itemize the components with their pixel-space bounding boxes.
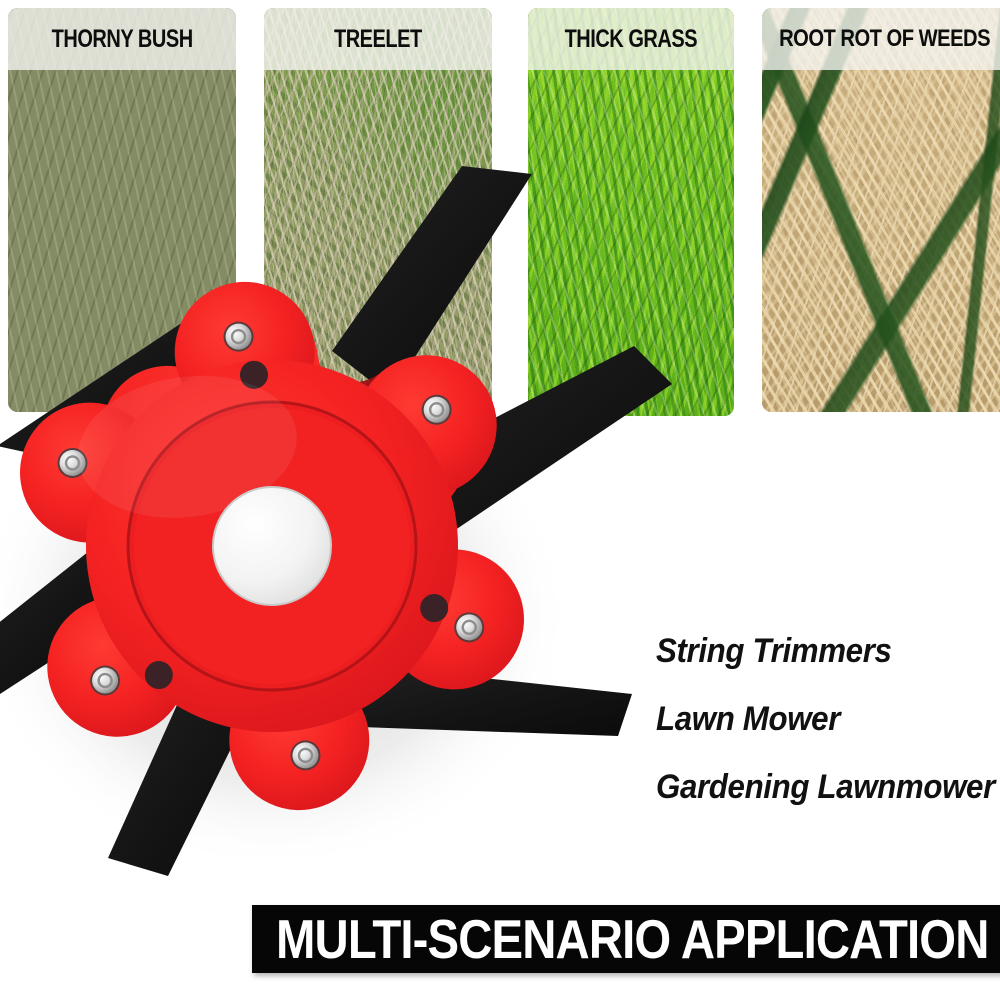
scenario-caption: TREELET: [264, 8, 492, 70]
headline-text: MULTI-SCENARIO APPLICATION: [276, 907, 989, 971]
scenario-label-1: THORNY BUSH: [51, 25, 192, 54]
product-marketing-image: THORNY BUSH TREELET THICK GRASS ROOT ROT…: [0, 0, 1000, 1000]
feature-item-gardening-lawnmower: Gardening Lawnmower: [656, 770, 972, 804]
headline-banner: MULTI-SCENARIO APPLICATION: [252, 905, 1000, 973]
product-image-trimmer-head: [0, 146, 672, 876]
scenario-caption: ROOT ROT OF WEEDS: [762, 8, 1000, 70]
feature-item-lawn-mower: Lawn Mower: [656, 702, 972, 736]
scenario-label-2: TREELET: [334, 25, 422, 54]
scenario-label-4: ROOT ROT OF WEEDS: [780, 25, 991, 53]
feature-item-string-trimmers: String Trimmers: [656, 634, 972, 668]
scenario-panel-root-rot-of-weeds: ROOT ROT OF WEEDS: [762, 8, 1000, 412]
scenario-label-3: THICK GRASS: [565, 25, 698, 54]
scenario-caption: THORNY BUSH: [8, 8, 236, 70]
feature-list: String Trimmers Lawn Mower Gardening Law…: [656, 634, 1000, 804]
scenario-caption: THICK GRASS: [528, 8, 734, 70]
trimmer-head-illustration: [0, 146, 672, 876]
